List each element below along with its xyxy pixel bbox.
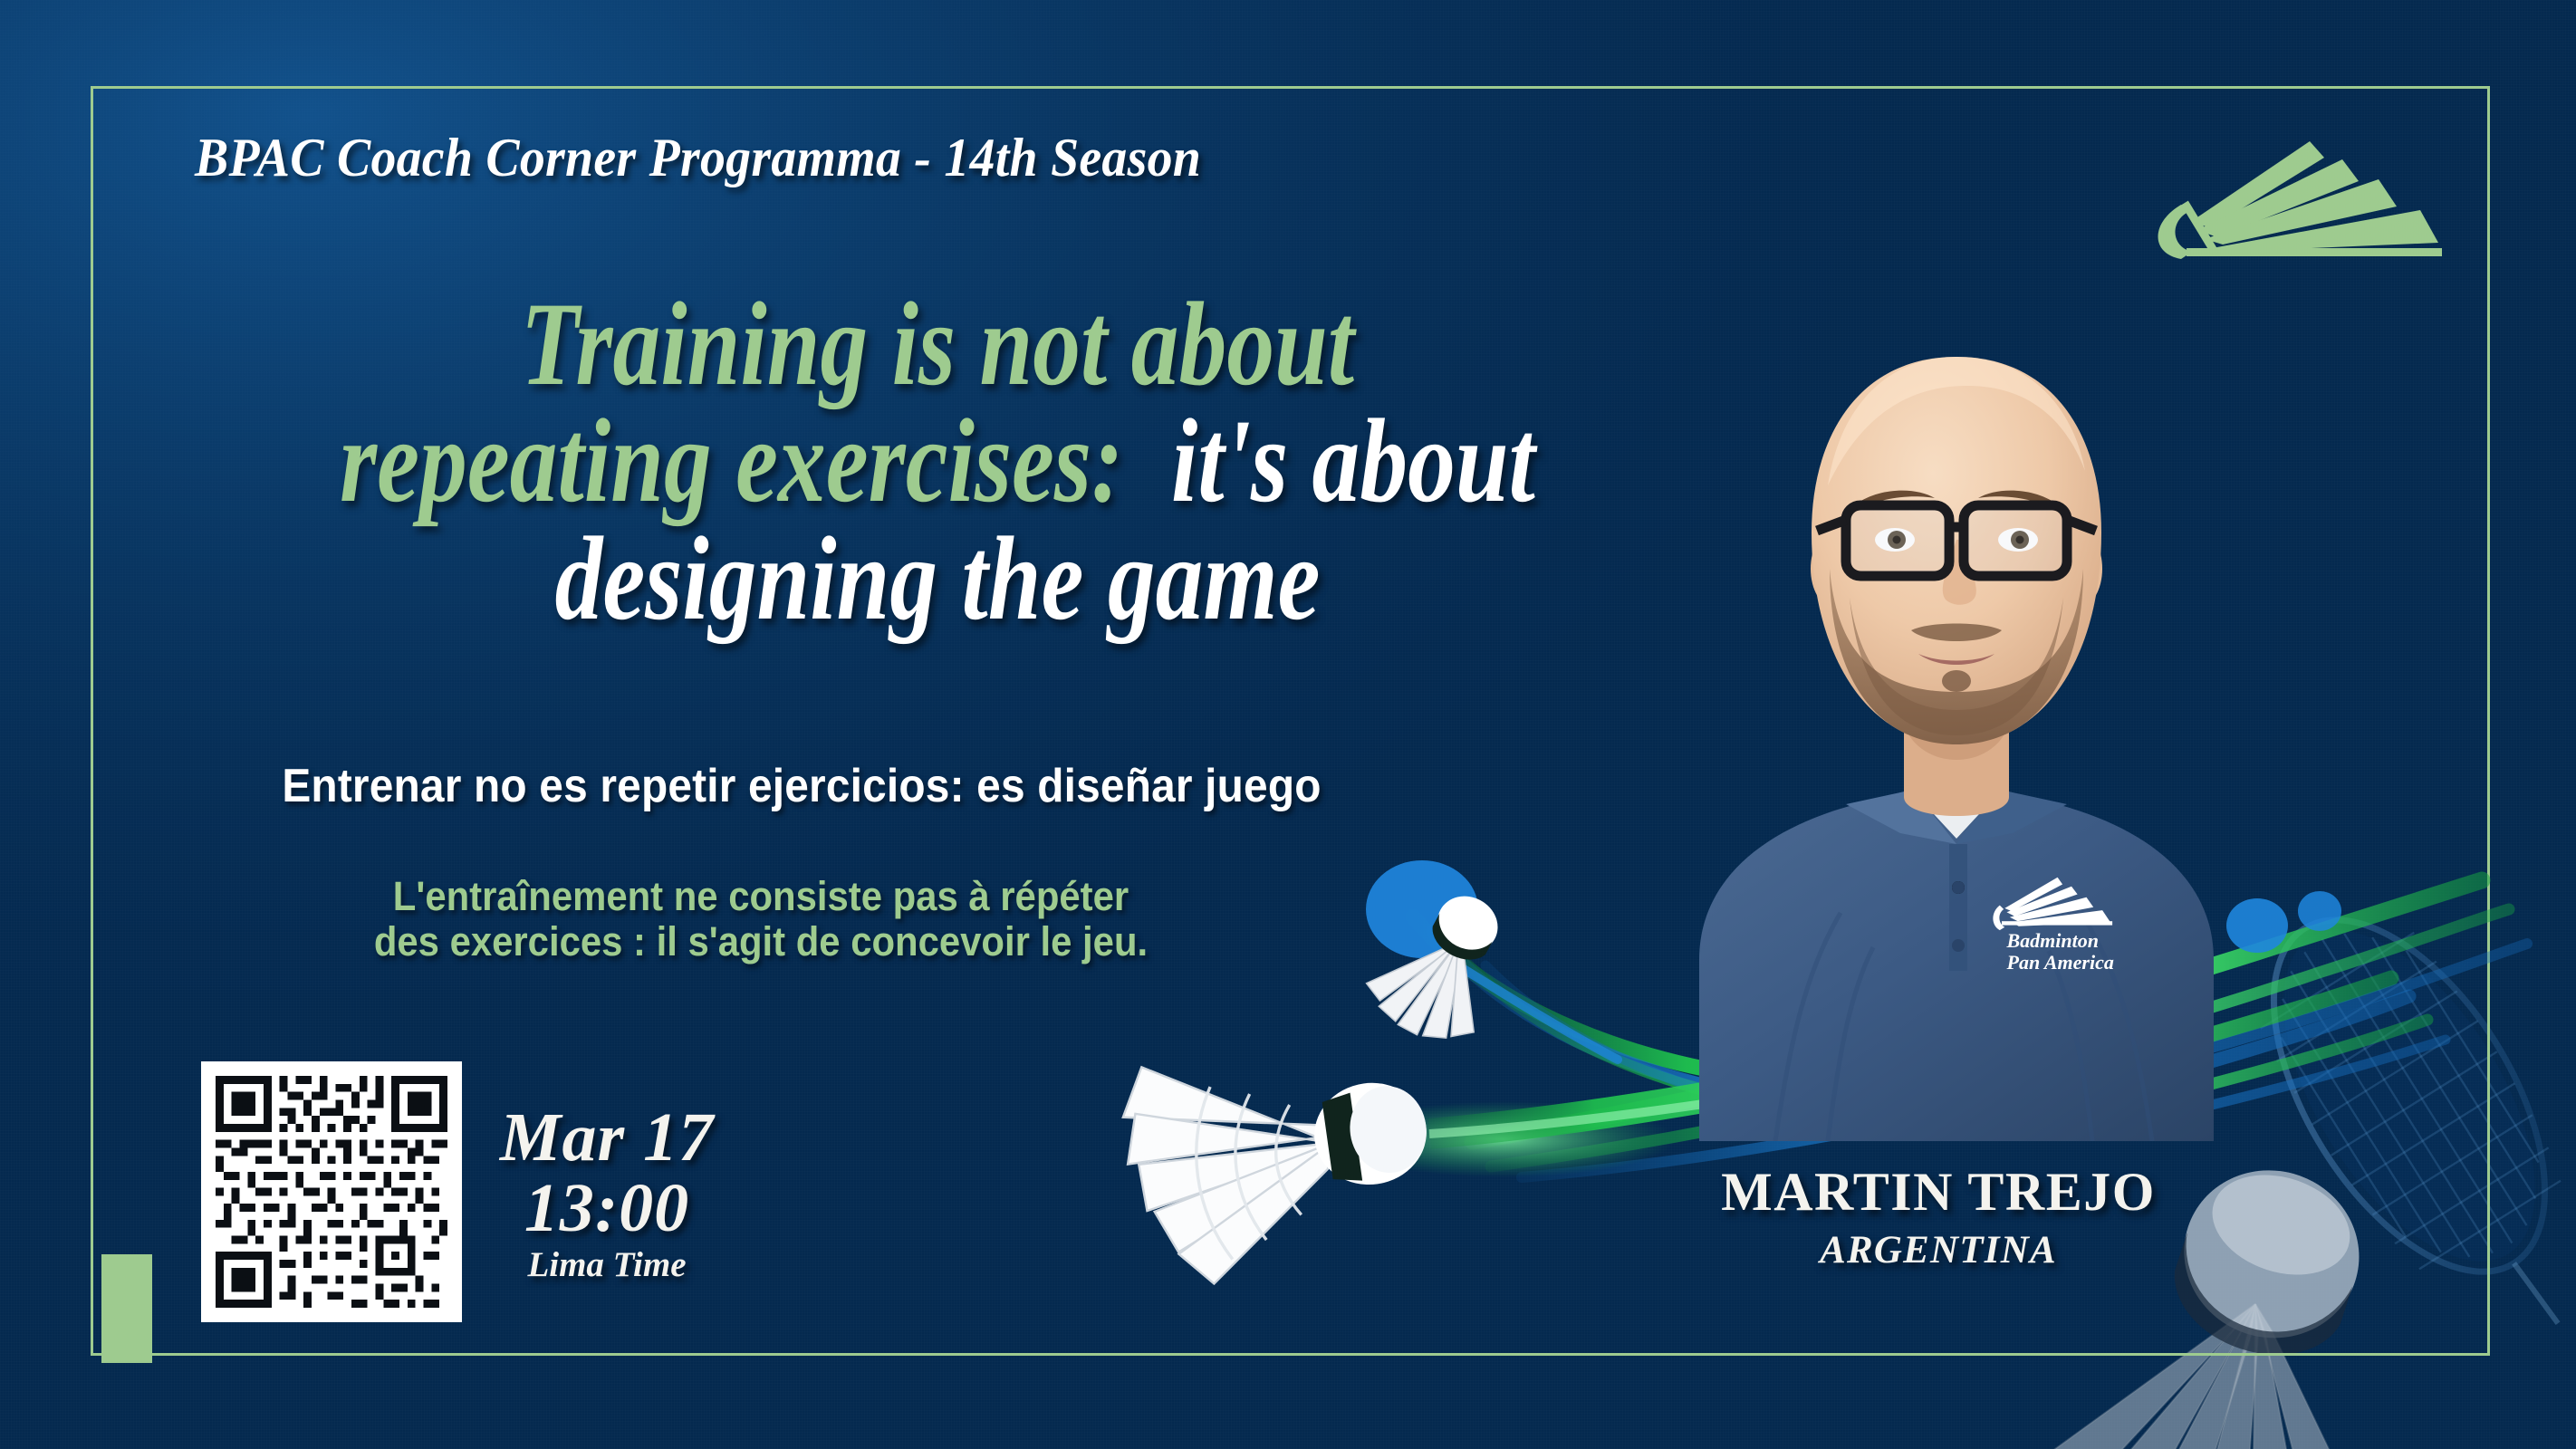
speaker-country: ARGENTINA: [1603, 1228, 2273, 1272]
headline-line-3: designing the game: [274, 520, 1600, 637]
speaker-name: MARTIN TREJO: [1603, 1164, 2273, 1221]
event-time: 13:00: [471, 1174, 743, 1244]
event-date: Mar 17: [471, 1103, 743, 1174]
frame-accent-block: [101, 1254, 152, 1363]
subtitle-french-line-1: L'entraînement ne consiste pas à répéter: [188, 874, 1334, 919]
headline-line-2-green: repeating exercises:: [340, 394, 1123, 527]
subtitle-french-line-2: des exercices : il s'agit de concevoir l…: [188, 919, 1334, 964]
headline-line-2-white-text: it's about: [1171, 394, 1535, 527]
svg-text:Badminton: Badminton: [2006, 929, 2099, 952]
event-timezone: Lima Time: [471, 1245, 743, 1286]
page-title: Training is not about repeating exercise…: [109, 285, 1766, 637]
svg-text:Pan America: Pan America: [2006, 951, 2114, 974]
headline-line-1: Training is not about: [274, 285, 1600, 402]
badminton-pan-america-logo: [2132, 116, 2458, 279]
qr-code[interactable]: [201, 1061, 462, 1322]
program-kicker: BPAC Coach Corner Programma - 14th Seaso…: [195, 127, 1201, 189]
small-shuttlecock: [1356, 871, 1530, 1058]
subtitle-french: L'entraînement ne consiste pas à répéter…: [145, 874, 1377, 965]
speaker-info: MARTIN TREJO ARGENTINA: [1603, 1164, 2273, 1272]
headline-line-2: repeating exercises: it's about: [274, 402, 1600, 519]
subtitle-spanish: Entrenar no es repetir ejercicios: es di…: [164, 759, 1439, 813]
event-datetime: Mar 17 13:00 Lima Time: [471, 1103, 743, 1286]
poster-canvas: Badminton Pan America: [0, 0, 2576, 1449]
headline-line-2-white: [1123, 394, 1171, 527]
